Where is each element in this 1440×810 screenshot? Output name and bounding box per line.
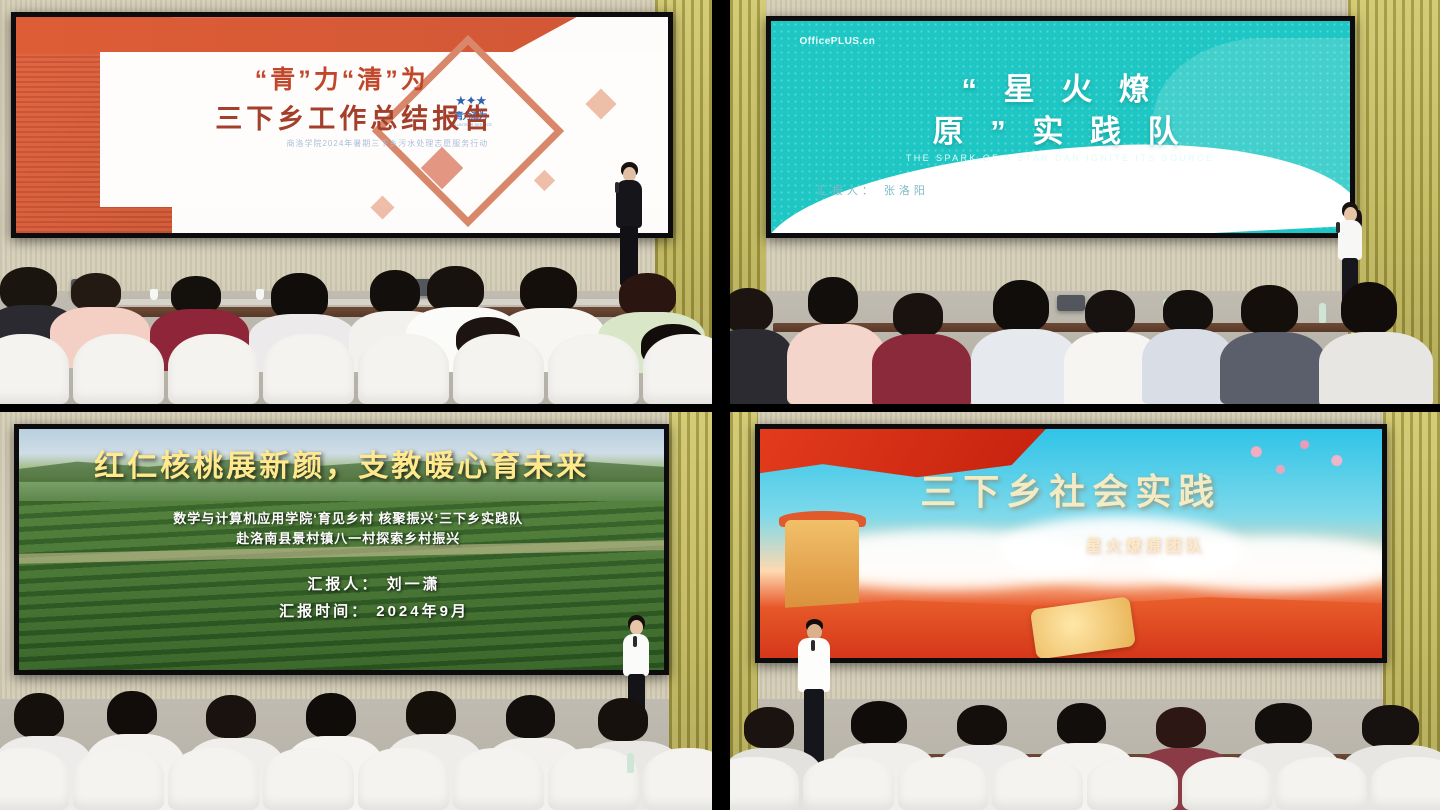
chair bbox=[643, 748, 712, 810]
presenter-head bbox=[630, 620, 643, 635]
audience-shoulders bbox=[1220, 332, 1327, 404]
audience-head bbox=[1156, 707, 1206, 747]
audience-head bbox=[851, 701, 908, 746]
audience-shoulders bbox=[730, 329, 794, 404]
panel-bottom-right[interactable]: 三下乡社会实践 星火燎原团队 bbox=[712, 404, 1440, 810]
chair bbox=[168, 748, 259, 810]
photo-top-left: ★✦★ 青力清为 VOLUNTEER SERVICE “青”力“清”为 三下乡工… bbox=[0, 0, 712, 404]
chair bbox=[1182, 757, 1273, 810]
microphone-icon bbox=[633, 636, 637, 647]
audience-seated-rows bbox=[0, 691, 712, 810]
chair bbox=[168, 334, 259, 404]
chair bbox=[1371, 757, 1440, 810]
slide-tower bbox=[785, 520, 860, 612]
audience-head bbox=[506, 695, 556, 738]
audience-shoulders bbox=[971, 329, 1078, 404]
photo-collage: ★✦★ 青力清为 VOLUNTEER SERVICE “青”力“清”为 三下乡工… bbox=[0, 0, 1440, 810]
chair bbox=[730, 757, 799, 810]
screen-surface-3: 红仁核桃展新颜，支教暖心育未来 数学与计算机应用学院‘育见乡村 核聚振兴’三下乡… bbox=[19, 429, 664, 670]
projection-screen-4: 三下乡社会实践 星火燎原团队 bbox=[755, 424, 1387, 663]
audience-head bbox=[1255, 703, 1312, 745]
microphone-icon bbox=[811, 640, 815, 651]
slide4-title: 三下乡社会实践 bbox=[810, 463, 1332, 515]
photo-bottom-right: 三下乡社会实践 星火燎原团队 bbox=[730, 412, 1440, 810]
chair bbox=[898, 757, 989, 810]
slide3-subtitle-line1: 数学与计算机应用学院‘育见乡村 核聚振兴’三下乡实践队 bbox=[58, 508, 639, 527]
chair-row-front bbox=[730, 757, 1440, 810]
slide3-subtitle-line2: 赴洛南县景村镇八一村探索乡村振兴 bbox=[58, 528, 639, 547]
chair bbox=[73, 748, 164, 810]
chair bbox=[1087, 757, 1178, 810]
chair bbox=[263, 748, 354, 810]
chair bbox=[0, 748, 69, 810]
slide-report-cover: ★✦★ 青力清为 VOLUNTEER SERVICE “青”力“清”为 三下乡工… bbox=[16, 17, 668, 233]
audience-head bbox=[206, 695, 256, 738]
chair bbox=[358, 334, 449, 404]
audience-head bbox=[730, 288, 773, 332]
chair bbox=[992, 757, 1083, 810]
officeplus-brand-label: OfficePLUS.cn bbox=[799, 36, 875, 47]
audience-head bbox=[427, 266, 484, 313]
audience-head bbox=[808, 277, 858, 324]
audience-head bbox=[406, 691, 456, 736]
microphone-icon bbox=[1336, 222, 1340, 233]
projection-screen-2: OfficePLUS.cn “ 星 火 燎 原 ” 实 践 队 THE SPAR… bbox=[766, 16, 1355, 238]
slide-spark-team: OfficePLUS.cn “ 星 火 燎 原 ” 实 践 队 THE SPAR… bbox=[771, 21, 1350, 233]
slide-patriotic-practice: 三下乡社会实践 星火燎原团队 bbox=[760, 429, 1382, 658]
projection-screen-3: 红仁核桃展新颜，支教暖心育未来 数学与计算机应用学院‘育见乡村 核聚振兴’三下乡… bbox=[14, 424, 669, 675]
audience-head bbox=[306, 693, 356, 738]
audience-head bbox=[107, 691, 157, 736]
slide2-reporter-line: 汇报人： 张洛阳 bbox=[817, 182, 929, 198]
audience-head bbox=[71, 273, 121, 311]
chair bbox=[548, 334, 639, 404]
chair bbox=[1276, 757, 1367, 810]
audience-head bbox=[598, 698, 648, 741]
chair bbox=[263, 334, 354, 404]
audience-head bbox=[619, 273, 676, 317]
audience-seated-rows bbox=[0, 259, 712, 404]
audience-head bbox=[1241, 285, 1298, 334]
audience-head bbox=[1085, 290, 1135, 334]
audience-seated-rows bbox=[730, 275, 1440, 404]
chair-row-front bbox=[0, 334, 712, 404]
slide3-title: 红仁核桃展新颜，支教暖心育未来 bbox=[32, 441, 651, 485]
audience-head bbox=[957, 705, 1007, 745]
slide3-reporter: 汇报人： 刘一潇 bbox=[122, 573, 625, 594]
chair bbox=[548, 748, 639, 810]
screen-surface-1: ★✦★ 青力清为 VOLUNTEER SERVICE “青”力“清”为 三下乡工… bbox=[16, 17, 668, 233]
audience-head bbox=[271, 273, 328, 320]
slide-orange-top-band bbox=[16, 17, 577, 54]
screen-surface-2: OfficePLUS.cn “ 星 火 燎 原 ” 实 践 队 THE SPAR… bbox=[771, 21, 1350, 233]
audience-head bbox=[893, 293, 943, 337]
slide1-subtitle: 商洛学院2024年暑期三下乡污水处理志愿服务行动 bbox=[146, 138, 629, 149]
slide1-title-line1: “青”力“清”为 bbox=[100, 60, 583, 96]
panel-bottom-left[interactable]: 红仁核桃展新颜，支教暖心育未来 数学与计算机应用学院‘育见乡村 核聚振兴’三下乡… bbox=[0, 404, 712, 810]
audience-shoulders bbox=[872, 334, 971, 404]
presenter-torso bbox=[1338, 220, 1362, 260]
chair bbox=[453, 748, 544, 810]
photo-top-right: OfficePLUS.cn “ 星 火 燎 原 ” 实 践 队 THE SPAR… bbox=[730, 0, 1440, 404]
projection-screen-1: ★✦★ 青力清为 VOLUNTEER SERVICE “青”力“清”为 三下乡工… bbox=[11, 12, 673, 238]
chair bbox=[453, 334, 544, 404]
audience-head bbox=[14, 693, 64, 738]
audience-head bbox=[1057, 703, 1107, 745]
audience-shoulders bbox=[1319, 332, 1433, 404]
slide2-title-line1: “ 星 火 燎 bbox=[771, 64, 1350, 109]
audience-head bbox=[1341, 282, 1398, 334]
slide2-title-line2: 原 ” 实 践 队 bbox=[771, 106, 1350, 151]
chair bbox=[643, 334, 712, 404]
audience-head bbox=[1163, 290, 1213, 331]
audience-head bbox=[1362, 705, 1419, 747]
water-bottle bbox=[627, 753, 634, 773]
chair bbox=[73, 334, 164, 404]
audience-head bbox=[171, 276, 221, 314]
slide4-subtitle: 星火燎原团队 bbox=[946, 532, 1344, 556]
panel-top-left[interactable]: ★✦★ 青力清为 VOLUNTEER SERVICE “青”力“清”为 三下乡工… bbox=[0, 0, 712, 404]
slide3-report-time: 汇报时间： 2024年9月 bbox=[122, 600, 625, 621]
screen-surface-4: 三下乡社会实践 星火燎原团队 bbox=[760, 429, 1382, 658]
chair bbox=[803, 757, 894, 810]
audience-head bbox=[370, 270, 420, 314]
photo-bottom-left: 红仁核桃展新颜，支教暖心育未来 数学与计算机应用学院‘育见乡村 核聚振兴’三下乡… bbox=[0, 412, 712, 810]
audience-seated-rows bbox=[730, 699, 1440, 810]
chair bbox=[358, 748, 449, 810]
presenter-torso bbox=[616, 180, 642, 228]
microphone-icon bbox=[615, 182, 619, 193]
chair bbox=[0, 334, 69, 404]
slide-walnut-orchard: 红仁核桃展新颜，支教暖心育未来 数学与计算机应用学院‘育见乡村 核聚振兴’三下乡… bbox=[19, 429, 664, 670]
chair-row-front bbox=[0, 748, 712, 810]
panel-top-right[interactable]: OfficePLUS.cn “ 星 火 燎 原 ” 实 践 队 THE SPAR… bbox=[712, 0, 1440, 404]
audience-head bbox=[520, 267, 577, 314]
audience-head bbox=[993, 280, 1050, 332]
slide2-english-subtitle: THE SPARK OF A STAR CAN IGNITE ITS SOURC… bbox=[771, 153, 1350, 163]
slide1-title-line2: 三下乡工作总结报告 bbox=[94, 97, 616, 136]
audience-head bbox=[744, 707, 794, 747]
